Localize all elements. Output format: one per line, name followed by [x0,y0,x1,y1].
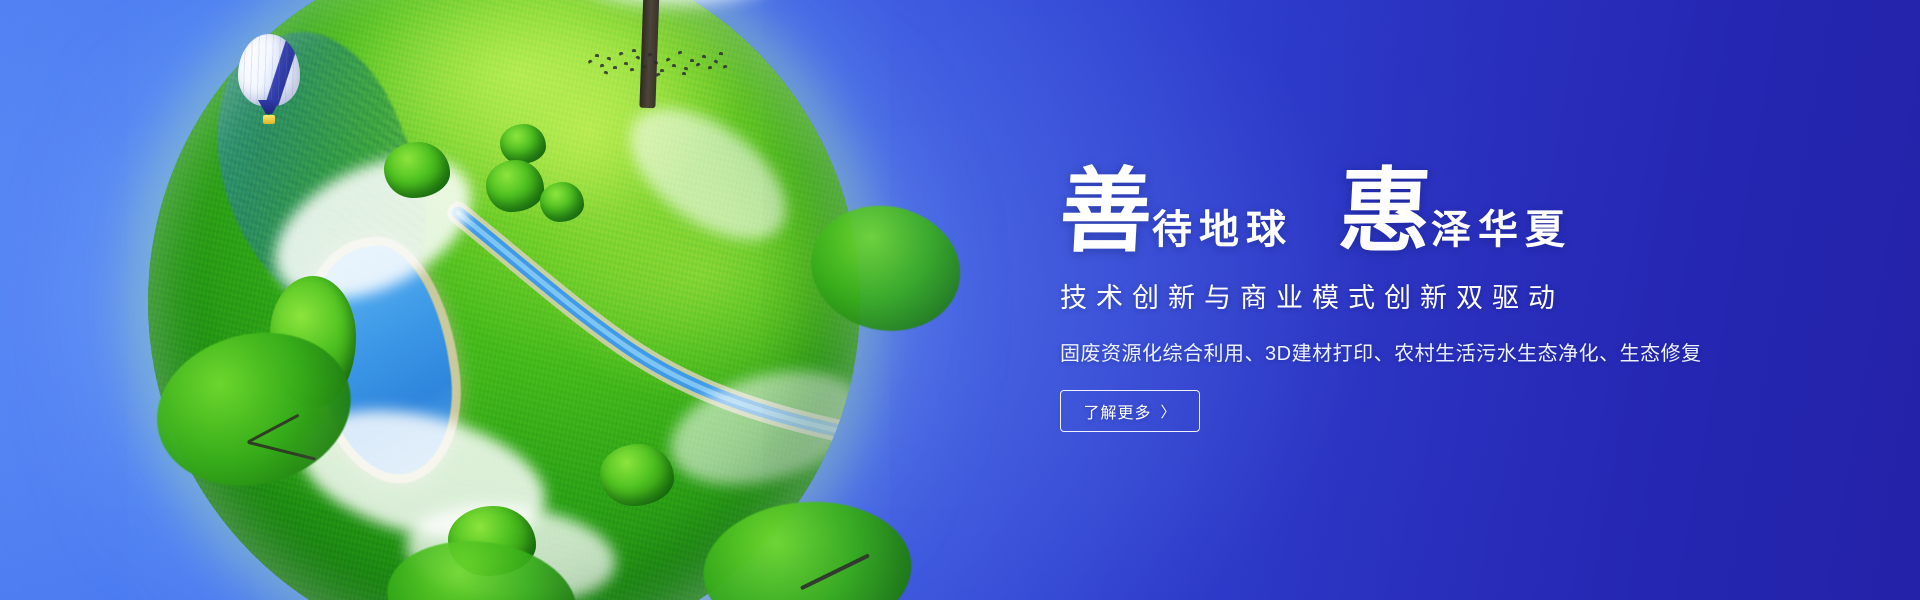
bird-icon [588,59,593,64]
bird-icon [607,56,612,60]
headline-char-big-2: 惠 [1337,166,1434,258]
bird-icon [666,57,671,62]
banner-subtitle: 技术创新与商业模式创新双驱动 [1060,276,1700,315]
bird-icon [632,49,636,52]
bird-icon [696,62,701,66]
bush [600,444,674,506]
cloud-patch [657,351,860,505]
bird-icon [684,66,689,70]
hot-air-balloon [238,34,300,130]
bush [486,160,544,212]
bird-flock [586,46,726,90]
bird-icon [630,68,634,72]
hero-banner: 善待地球 惠泽华夏 技术创新与商业模式创新双驱动 固废资源化综合利用、3D建材打… [0,0,1920,600]
bird-icon [604,70,609,74]
balloon-basket [263,115,275,124]
headline-phrase-2: 惠泽华夏 [1339,166,1572,258]
bird-icon [636,55,641,59]
headline-text-small-1: 待地球 [1152,197,1293,255]
banner-copy: 善待地球 惠泽华夏 技术创新与商业模式创新双驱动 固废资源化综合利用、3D建材打… [1060,132,1700,432]
bird-icon [656,72,661,77]
bird-icon [613,66,617,69]
bird-icon [619,51,624,55]
limb-tree [794,192,972,370]
tree-mist [570,0,780,4]
balloon-envelope [238,34,300,106]
bird-icon [672,64,676,68]
bird-icon [654,60,659,64]
learn-more-label: 了解更多 [1083,399,1151,423]
balloon-skirt [258,100,280,114]
bird-icon [690,59,694,62]
bird-icon [624,62,629,66]
mountain-ridge [179,7,462,346]
headline: 善待地球 惠泽华夏 [1060,132,1700,258]
bird-icon [642,65,646,68]
bird-icon [682,72,686,76]
bird-icon [678,51,683,55]
bird-icon [719,52,723,55]
bird-icon [648,52,653,56]
bush [540,182,584,222]
banner-description: 固废资源化综合利用、3D建材打印、农村生活污水生态净化、生态修复 [1060,337,1700,366]
headline-char-big-1: 善 [1058,166,1155,258]
bird-icon [600,64,605,68]
bush [500,124,546,164]
headline-phrase-1: 善待地球 [1060,166,1293,258]
bush [384,142,450,198]
headline-text-small-2: 泽华夏 [1431,197,1572,255]
bird-icon [708,66,712,70]
bird-icon [595,54,599,57]
learn-more-button[interactable]: 了解更多 〉 [1060,390,1200,432]
limb-tree [699,495,917,600]
cloud-patch [252,128,493,328]
bird-icon [714,59,719,63]
bird-icon [702,55,707,59]
chevron-right-icon: 〉 [1161,401,1177,422]
bird-icon [660,69,664,72]
